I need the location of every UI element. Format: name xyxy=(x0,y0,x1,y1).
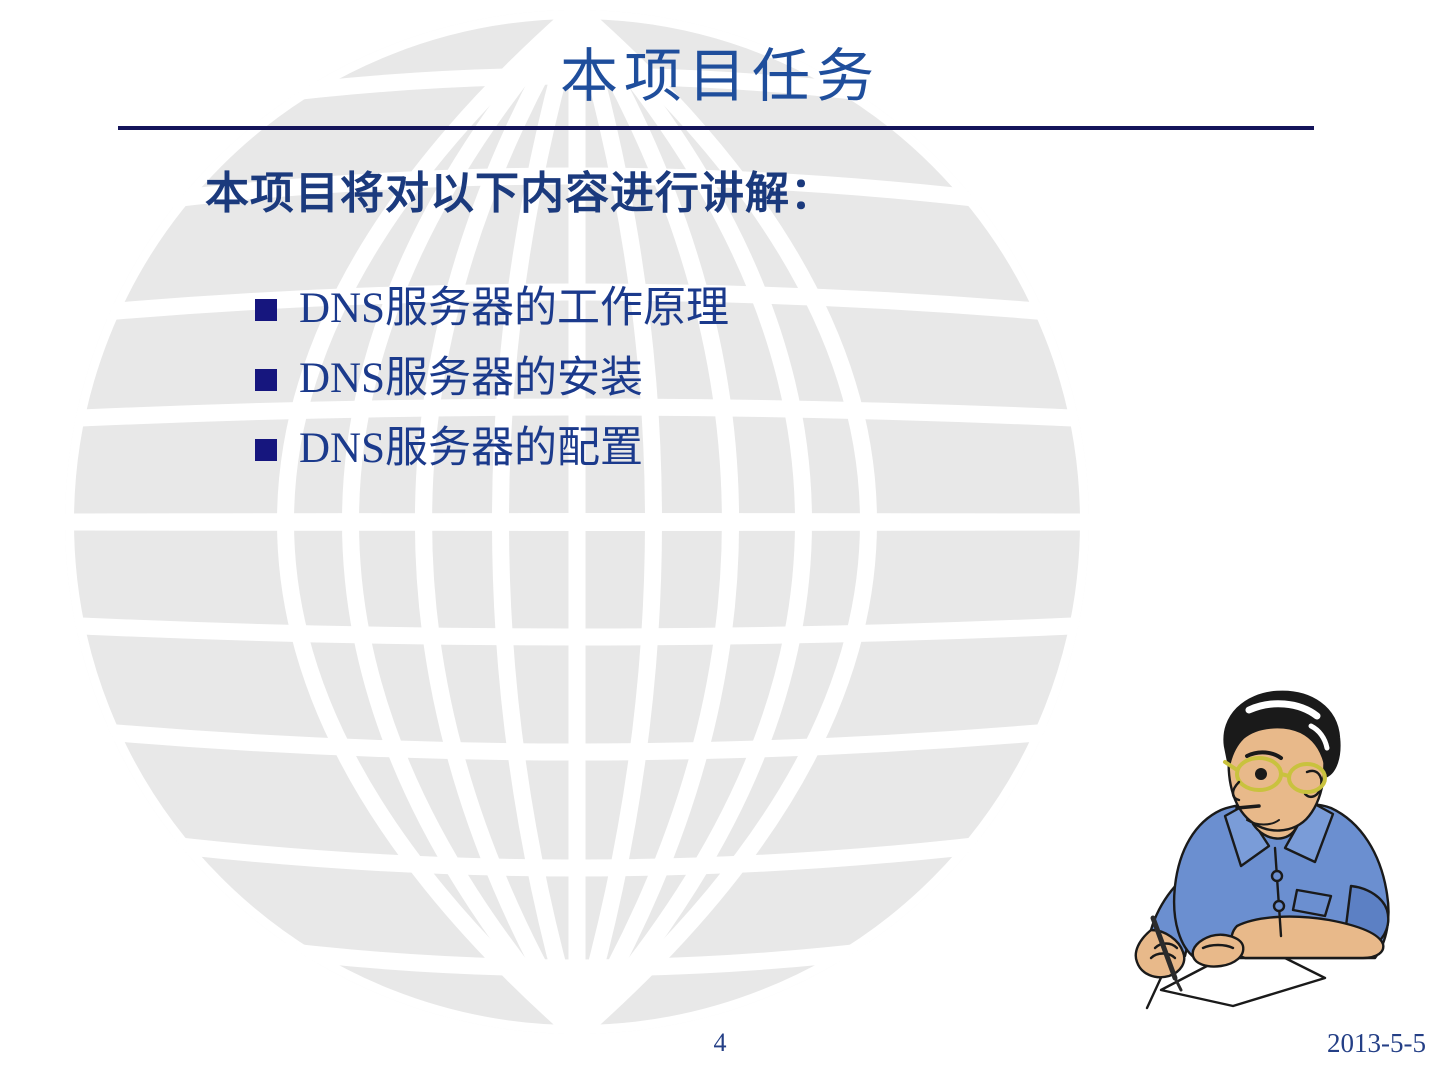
title-divider xyxy=(118,126,1314,130)
list-item-label: DNS服务器的配置 xyxy=(299,424,643,474)
square-bullet-icon xyxy=(255,439,277,461)
page-title-text: 本项目任务 xyxy=(560,42,880,112)
bullet-list: DNS服务器的工作原理 DNS服务器的安装 DNS服务器的配置 xyxy=(255,274,729,484)
square-bullet-icon xyxy=(255,369,277,391)
slide-date: 2013-5-5 xyxy=(1327,1028,1426,1059)
list-item: DNS服务器的配置 xyxy=(255,414,729,484)
man-writing-at-desk-icon xyxy=(1125,690,1425,1010)
list-item-label: DNS服务器的工作原理 xyxy=(299,284,729,334)
page-title: 本项目任务 xyxy=(0,42,1440,112)
subtitle-text: 本项目将对以下内容进行讲解： xyxy=(205,166,835,222)
list-item: DNS服务器的安装 xyxy=(255,344,729,414)
square-bullet-icon xyxy=(255,299,277,321)
list-item: DNS服务器的工作原理 xyxy=(255,274,729,344)
list-item-label: DNS服务器的安装 xyxy=(299,354,643,404)
page-number: 4 xyxy=(0,1028,1440,1058)
slide-canvas: 本项目任务 本项目将对以下内容进行讲解： DNS服务器的工作原理 DNS服务器的… xyxy=(0,0,1440,1080)
